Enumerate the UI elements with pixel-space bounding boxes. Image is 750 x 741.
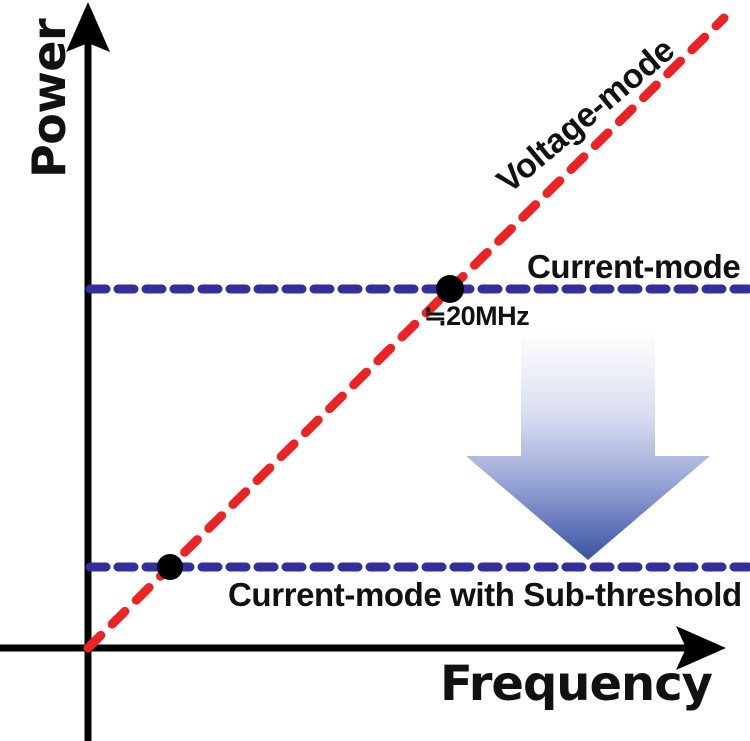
x-axis-title: Frequency (440, 660, 712, 708)
down-arrow-icon (466, 330, 710, 560)
current-mode-sub-threshold-label: Current-mode with Sub-threshold (228, 578, 742, 611)
y-axis-title: Power (26, 19, 72, 178)
crossover-point-marker (436, 275, 464, 303)
power-vs-frequency-figure: Power Frequency Voltage-mode Current-mod… (0, 0, 750, 741)
chart-canvas (0, 0, 750, 741)
sub-threshold-crossover-point-marker (157, 554, 183, 580)
current-mode-label: Current-mode (527, 250, 740, 283)
crossover-frequency-label: ≒20MHz (424, 303, 529, 330)
